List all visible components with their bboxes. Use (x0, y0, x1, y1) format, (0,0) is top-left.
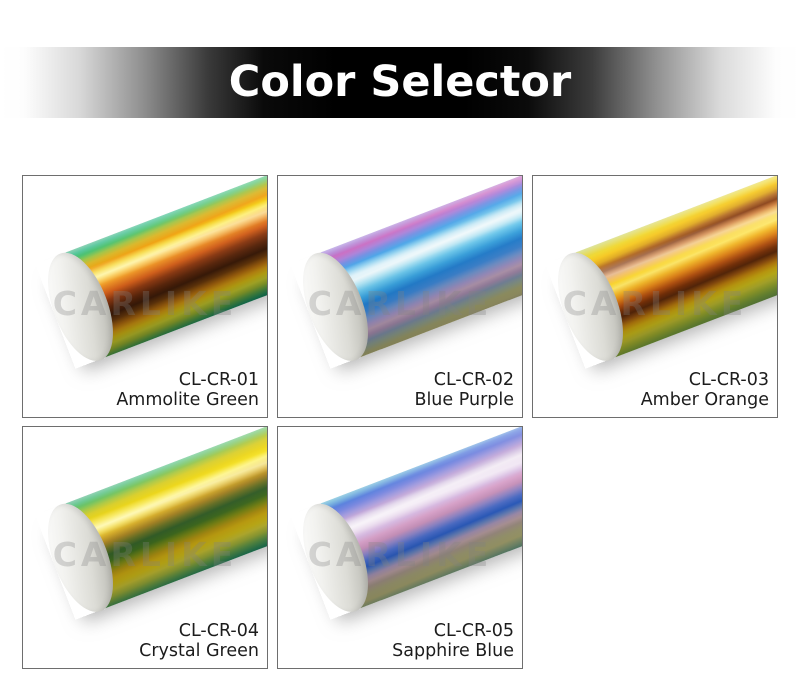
swatch-card[interactable]: CARLIKECL-CR-03Amber Orange (532, 175, 778, 418)
vinyl-roll (290, 176, 522, 369)
vinyl-roll (545, 176, 777, 369)
swatch-label: CL-CR-04Crystal Green (139, 621, 259, 662)
swatch-label: CL-CR-02Blue Purple (414, 370, 514, 411)
swatch-card[interactable]: CARLIKECL-CR-05Sapphire Blue (277, 426, 523, 669)
swatch-label: CL-CR-01Ammolite Green (116, 370, 259, 411)
swatch-name: Blue Purple (414, 390, 514, 411)
page-title: Color Selector (229, 61, 571, 104)
swatch-name: Amber Orange (641, 390, 769, 411)
vinyl-roll (35, 176, 267, 369)
swatch-code: CL-CR-02 (414, 370, 514, 391)
swatch-name: Sapphire Blue (392, 641, 514, 662)
swatch-name: Crystal Green (139, 641, 259, 662)
swatch-card[interactable]: CARLIKECL-CR-02Blue Purple (277, 175, 523, 418)
swatch-code: CL-CR-01 (116, 370, 259, 391)
swatch-card-empty (532, 426, 778, 669)
header-banner: Color Selector (0, 47, 800, 118)
vinyl-roll (290, 427, 522, 620)
swatch-card[interactable]: CARLIKECL-CR-04Crystal Green (22, 426, 268, 669)
swatch-code: CL-CR-04 (139, 621, 259, 642)
swatch-label: CL-CR-03Amber Orange (641, 370, 769, 411)
vinyl-roll (35, 427, 267, 620)
swatch-label: CL-CR-05Sapphire Blue (392, 621, 514, 662)
swatch-name: Ammolite Green (116, 390, 259, 411)
swatch-code: CL-CR-05 (392, 621, 514, 642)
swatch-code: CL-CR-03 (641, 370, 769, 391)
swatch-grid: CARLIKECL-CR-01Ammolite GreenCARLIKECL-C… (22, 175, 778, 669)
swatch-card[interactable]: CARLIKECL-CR-01Ammolite Green (22, 175, 268, 418)
